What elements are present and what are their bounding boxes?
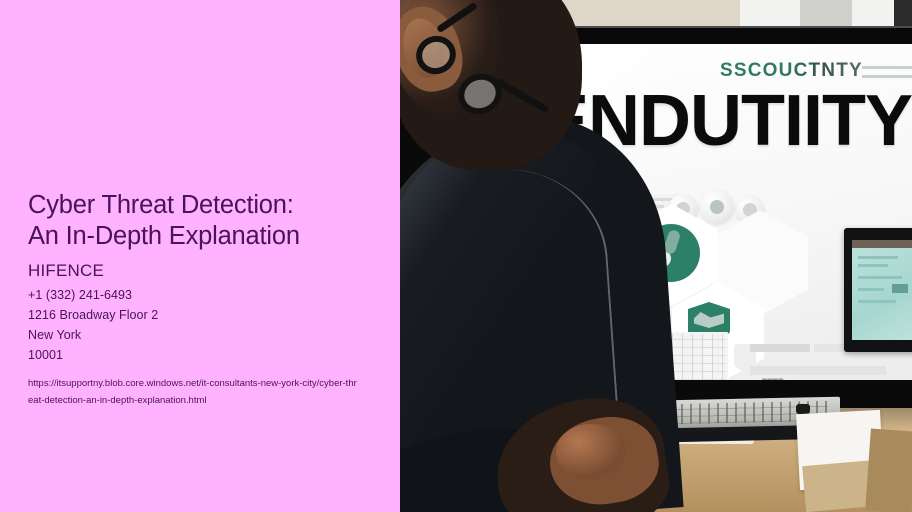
source-url-link[interactable]: https://itsupportny.blob.core.windows.ne…: [28, 375, 358, 409]
company-phone[interactable]: +1 (332) 241-6493: [28, 285, 390, 305]
secondary-row-2: [858, 264, 888, 267]
paper-sheet-3: [865, 428, 912, 512]
screen-bar-2: [750, 344, 810, 352]
company-zip: 10001: [28, 345, 390, 365]
company-name: HIFENCE: [28, 261, 390, 281]
secondary-monitor-titlebar: [852, 240, 912, 248]
round-icon-2-core: [710, 200, 724, 214]
page-title: Cyber Threat Detection: An In-Depth Expl…: [28, 190, 390, 252]
secondary-row-4: [858, 288, 884, 291]
hero-photo: SSCOUCTNTY SENDUTIITY: [400, 0, 912, 512]
person-fist-highlight: [556, 424, 626, 480]
keyboard-button: [796, 404, 810, 414]
secondary-block-1: [892, 284, 908, 293]
screen-bar-1: [750, 366, 886, 375]
info-panel: Cyber Threat Detection: An In-Depth Expl…: [0, 0, 400, 512]
company-street: 1216 Broadway Floor 2: [28, 305, 390, 325]
secondary-row-1: [858, 256, 898, 259]
secondary-row-3: [858, 276, 902, 279]
secondary-row-5: [858, 300, 896, 303]
company-city: New York: [28, 325, 390, 345]
screen-subheadline: SSCOUCTNTY: [720, 60, 863, 82]
wall-panel: [800, 0, 852, 28]
info-panel-content: Cyber Threat Detection: An In-Depth Expl…: [28, 190, 390, 409]
article-preview-card: Cyber Threat Detection: An In-Depth Expl…: [0, 0, 912, 512]
